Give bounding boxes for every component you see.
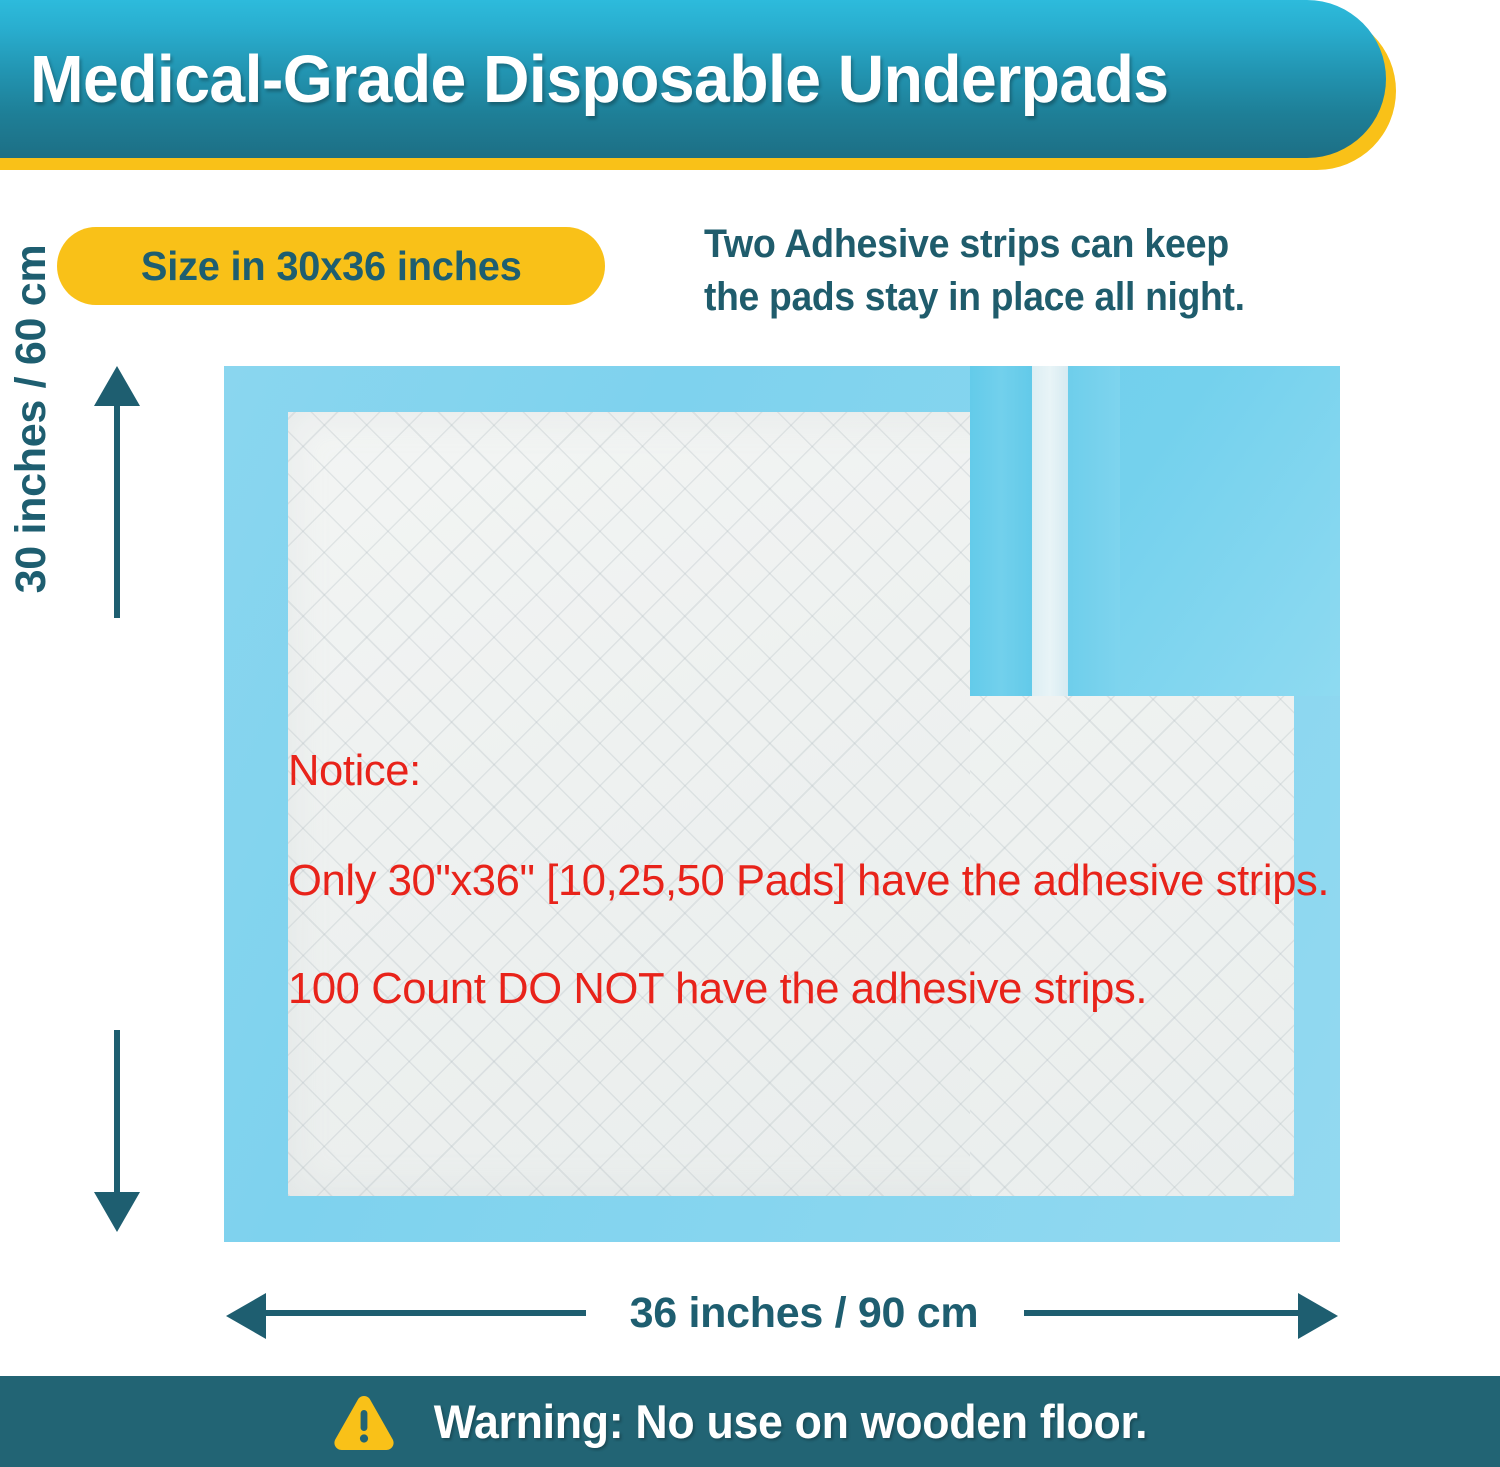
- size-badge-label: Size in 30x36 inches: [141, 243, 522, 290]
- notice-block: Notice: Only 30"x36" [10,25,50 Pads] hav…: [288, 748, 1298, 1012]
- arrow-down-icon: [94, 1192, 140, 1232]
- notice-line-2: 100 Count DO NOT have the adhesive strip…: [288, 966, 1288, 1012]
- pad-fold-blue-band-right: [1068, 366, 1120, 696]
- adhesive-note-line-1: Two Adhesive strips can keep: [704, 218, 1324, 271]
- page-title: Medical-Grade Disposable Underpads: [30, 0, 1307, 158]
- notice-line-1: Only 30"x36" [10,25,50 Pads] have the ad…: [288, 858, 1288, 904]
- notice-heading: Notice:: [288, 748, 1288, 794]
- adhesive-strip: [1032, 366, 1068, 696]
- adhesive-note-line-2: the pads stay in place all night.: [704, 271, 1318, 324]
- arrow-left-icon: [226, 1293, 266, 1339]
- horizontal-dimension-label: 36 inches / 90 cm: [586, 1282, 1022, 1344]
- size-badge: Size in 30x36 inches: [57, 227, 605, 305]
- warning-bar: Warning: No use on wooden floor.: [0, 1376, 1500, 1467]
- header-banner: Medical-Grade Disposable Underpads: [0, 0, 1398, 172]
- arrow-right-icon: [1298, 1293, 1338, 1339]
- pad-fold-blue-band-left: [970, 366, 1032, 696]
- adhesive-strips-note: Two Adhesive strips can keep the pads st…: [704, 218, 1364, 324]
- horizontal-dimension-line-left: [264, 1310, 586, 1316]
- horizontal-dimension-arrow: 36 inches / 90 cm: [226, 1282, 1338, 1344]
- warning-text: Warning: No use on wooden floor.: [434, 1394, 1148, 1449]
- vertical-dimension-line-bottom: [114, 1030, 120, 1200]
- vertical-dimension-arrow: [86, 366, 148, 1232]
- vertical-dimension-label: 30 inches / 60 cm: [2, 206, 60, 632]
- horizontal-dimension-line-right: [1024, 1310, 1300, 1316]
- vertical-dimension-line-top: [114, 400, 120, 618]
- warning-triangle-icon: [333, 1394, 395, 1450]
- pad-folded-corner: [924, 366, 1340, 696]
